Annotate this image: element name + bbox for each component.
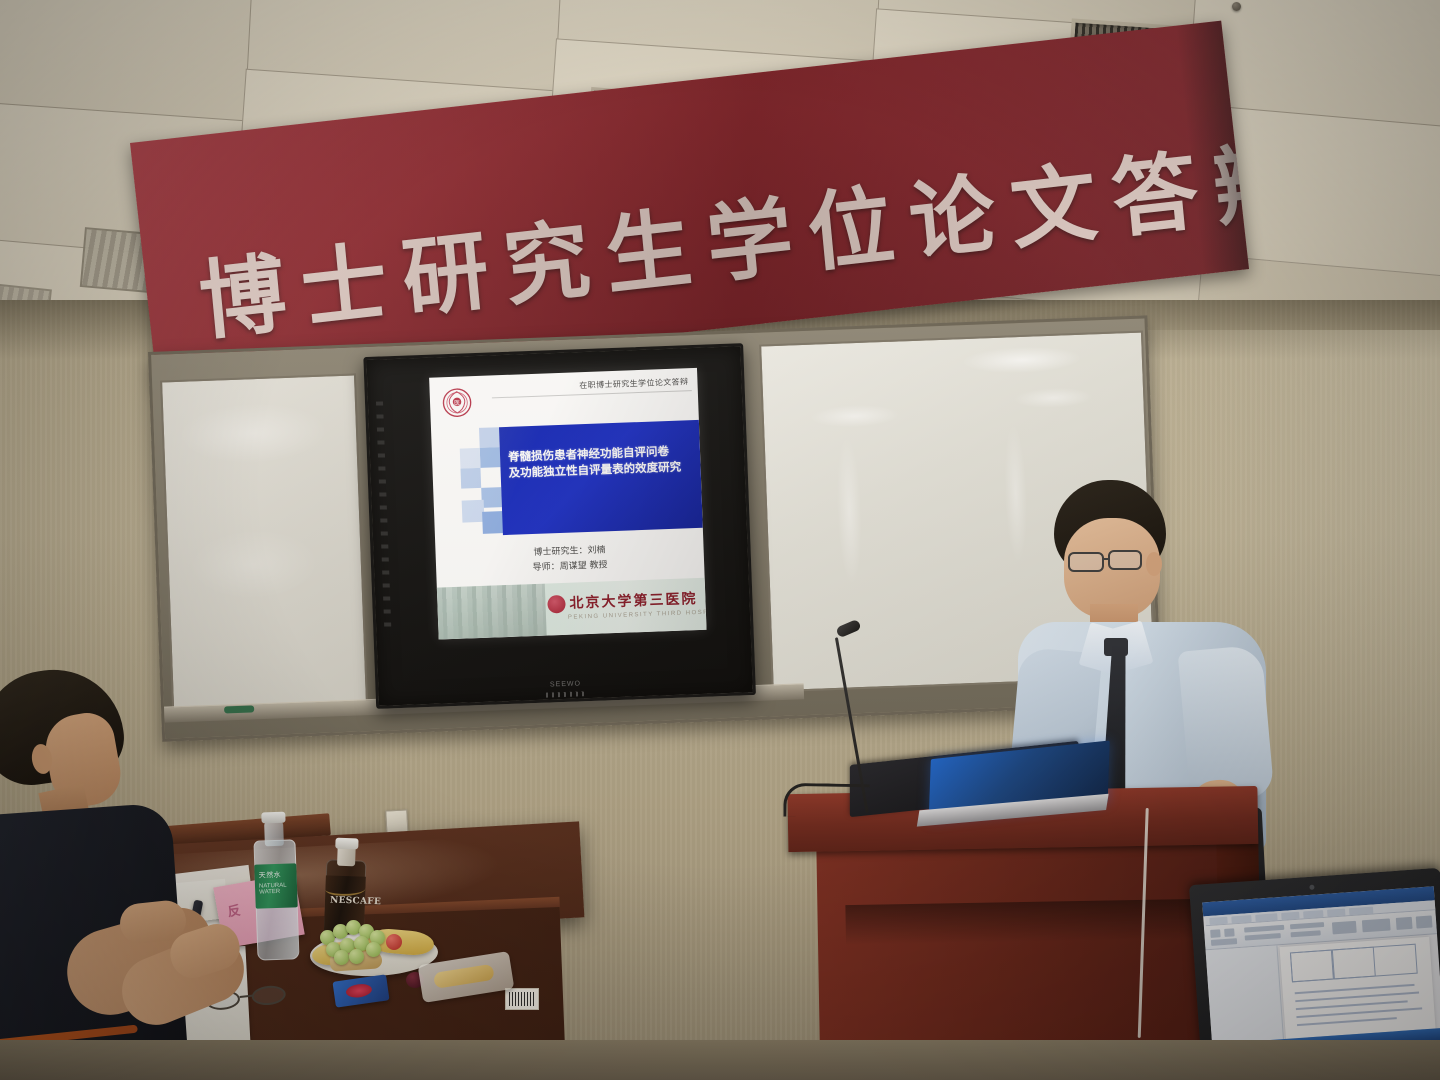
slide-deco-square [460,468,481,489]
committee-member-person [0,660,270,1080]
grape-cluster [316,918,388,960]
microphone-cable [783,783,870,818]
slide-deco-square [462,500,485,523]
display-brand-label: SEEWO [550,680,581,688]
slide-footer-institution: 北京大学第三医院 [569,588,698,613]
slide-deco-square [481,487,502,508]
slide-deco-square [460,448,481,469]
slide-deco-square [479,427,500,448]
presenter-eyeglasses-right-lens [1108,550,1142,570]
hospital-seal-logo: 医 [439,385,474,420]
presenter-eyeglasses-bridge [1103,558,1110,560]
slide-footer-band: 北京大学第三医院 PEKING UNIVERSITY THIRD HOSPITA… [437,578,707,640]
slide-header-rule [492,390,692,398]
display-ir-receiver [546,691,586,697]
display-side-buttons[interactable] [376,401,391,631]
slide-author-block: 博士研究生：刘楠 导师：周谋望 教授 [435,540,704,580]
whiteboard-display-unit: 医 在职博士研究生学位论文答辩 脊髓损伤患者神经功能自评问卷 及功能独立性自评量… [148,315,1162,741]
svg-text:医: 医 [454,400,460,407]
slide-footer-seal-icon [547,595,566,614]
floor-strip [0,1040,1440,1080]
sprinkler-head-3 [1232,2,1241,11]
webcam-icon [1309,885,1314,890]
interactive-display-panel[interactable]: 医 在职博士研究生学位论文答辩 脊髓损伤患者神经功能自评问卷 及功能独立性自评量… [363,343,756,709]
asset-barcode-label [505,988,539,1010]
conference-room-scene: 博士研究生学位论文答辩会 [0,0,1440,1080]
presenter-ear [1146,552,1162,576]
nescafe-brand-text: NESCAFE [330,895,381,907]
slide-header-text: 在职博士研究生学位论文答辩 [579,376,689,391]
podium-shadow [845,898,1246,945]
presenter-eyeglasses-left-lens [1068,552,1104,572]
cherry-tomato [386,934,402,950]
speaker-podium [787,786,1262,1080]
presentation-slide: 医 在职博士研究生学位论文答辩 脊髓损伤患者神经功能自评问卷 及功能独立性自评量… [429,368,706,640]
slide-deco-square [480,447,501,468]
slide-footer-cityscape [437,584,547,640]
